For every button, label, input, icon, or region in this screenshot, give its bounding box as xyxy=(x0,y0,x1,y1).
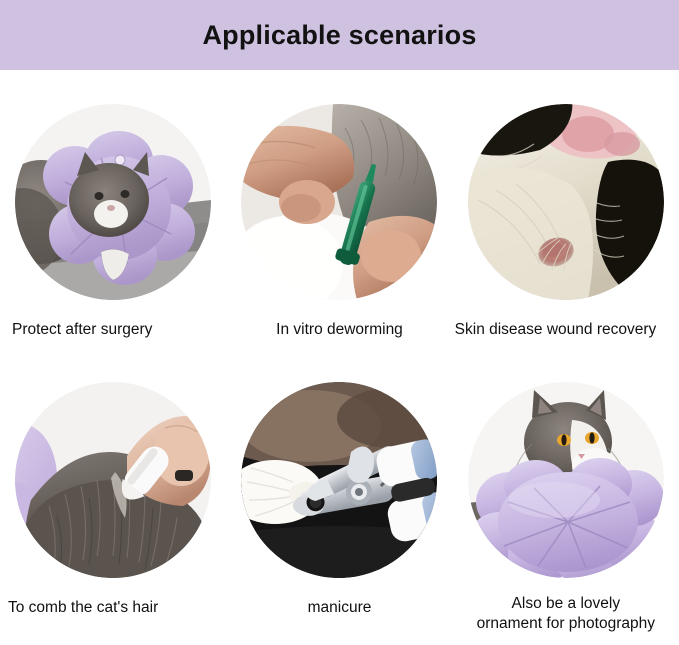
scenario-caption-in-vitro-deworming: In vitro deworming xyxy=(226,320,452,340)
scenario-row-1: Protect after surgery xyxy=(0,104,679,364)
scenario-card-manicure[interactable]: manicure xyxy=(226,382,452,645)
scenario-row-2: To comb the cat's hair xyxy=(0,382,679,645)
scenario-caption-protect-after-surgery: Protect after surgery xyxy=(0,320,226,340)
scenario-photo-comb-the-cats-hair xyxy=(15,382,211,578)
scenario-photo-skin-disease-wound-recovery xyxy=(468,104,664,300)
scenario-card-in-vitro-deworming[interactable]: In vitro deworming xyxy=(226,104,452,364)
scenario-card-skin-disease-wound-recovery[interactable]: Skin disease wound recovery xyxy=(453,104,679,364)
scenario-caption-lovely-ornament-for-photography: Also be a lovely ornament for photograph… xyxy=(453,594,679,635)
scenario-photo-lovely-ornament-for-photography xyxy=(468,382,664,578)
scenario-caption-manicure: manicure xyxy=(226,598,452,618)
scenario-card-comb-the-cats-hair[interactable]: To comb the cat's hair xyxy=(0,382,226,645)
page-header-banner: Applicable scenarios xyxy=(0,0,679,70)
scenario-photo-manicure xyxy=(241,382,437,578)
scenario-card-protect-after-surgery[interactable]: Protect after surgery xyxy=(0,104,226,364)
scenario-photo-protect-after-surgery xyxy=(15,104,211,300)
scenario-caption-skin-disease-wound-recovery: Skin disease wound recovery xyxy=(453,320,679,340)
scenario-grid: Protect after surgery xyxy=(0,70,679,645)
scenario-card-lovely-ornament-for-photography[interactable]: Also be a lovely ornament for photograph… xyxy=(453,382,679,645)
page-title: Applicable scenarios xyxy=(202,22,476,49)
scenario-photo-in-vitro-deworming xyxy=(241,104,437,300)
scenario-caption-comb-the-cats-hair: To comb the cat's hair xyxy=(0,598,226,618)
